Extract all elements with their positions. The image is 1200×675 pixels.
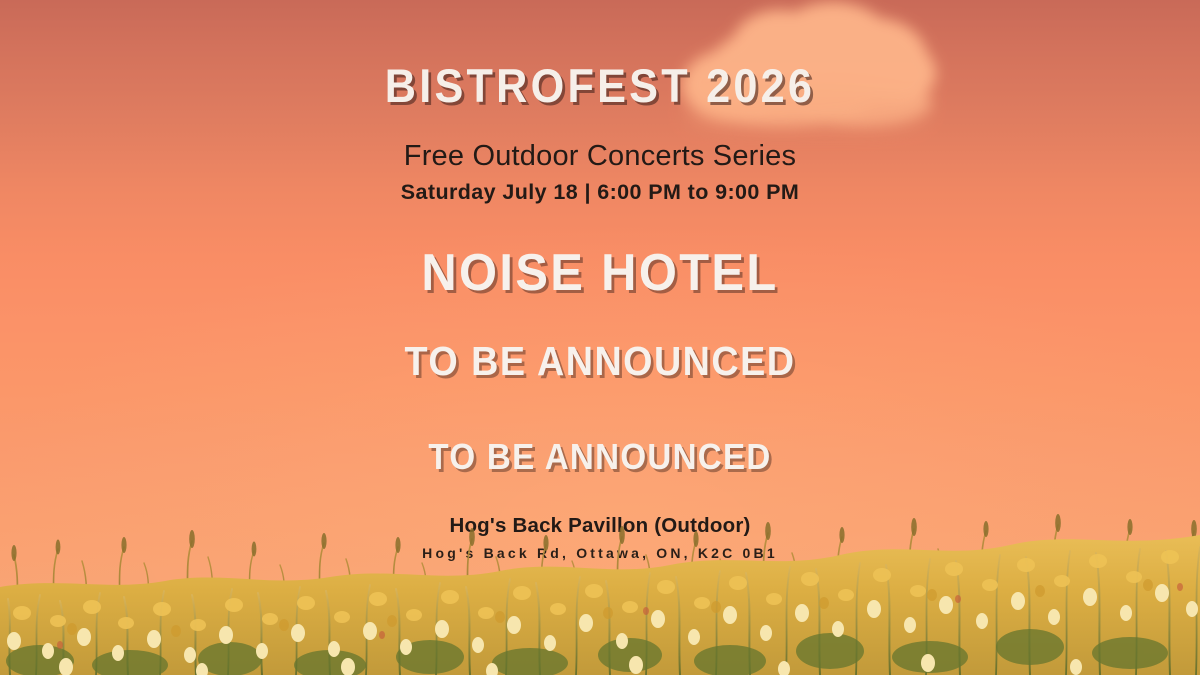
lineup-support-act-1: TO BE ANNOUNCED: [48, 338, 1152, 385]
meadow-illustration: [0, 495, 1200, 675]
lineup-support-act-2: TO BE ANNOUNCED: [48, 436, 1152, 478]
event-date-time: Saturday July 18 | 6:00 PM to 9:00 PM: [0, 180, 1200, 205]
event-poster: BISTROFEST 2026 Free Outdoor Concerts Se…: [0, 0, 1200, 675]
concert-series-subtitle: Free Outdoor Concerts Series: [0, 140, 1200, 173]
wildflower-meadow: [0, 495, 1200, 675]
lineup-headliner: NOISE HOTEL: [36, 243, 1164, 303]
page-title: BISTROFEST 2026: [48, 58, 1152, 113]
